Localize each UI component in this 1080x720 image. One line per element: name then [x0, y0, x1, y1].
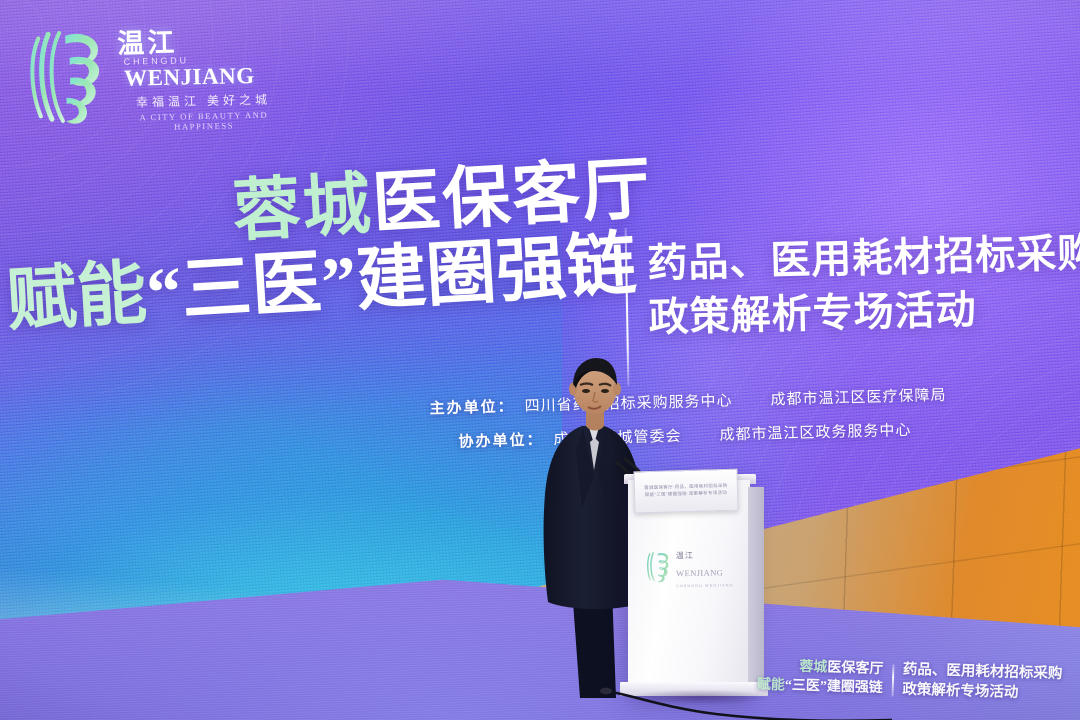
banner-left-block: 蓉城医保客厅 赋能“三医”建圈强链 [757, 658, 884, 699]
podium-logo-sub: CHENGDU WENJIANG [676, 583, 738, 588]
podium-nameplate: 蓉城医保客厅·药品、医用耗材招标采购 赋能“三医”建圈强链·政策解析专场活动 [633, 469, 738, 514]
banner-left-line-2: 赋能“三医”建圈强链 [757, 677, 883, 699]
logo-en-name: WENJIANG [124, 64, 255, 90]
headline-line2-rest: “三医”建圈强链 [144, 226, 638, 332]
stage-photo-scene: 温江 CHENGDU WENJIANG 幸福温江 美好之城 A CITY OF … [0, 0, 1080, 720]
wenjiang-wave-leaf-icon [646, 549, 673, 583]
podium-nameplate-line-2: 赋能“三医”建圈强链·政策解析专场活动 [635, 489, 737, 499]
organizer-label: 主办单位： [429, 400, 514, 417]
banner-left-line1-accent: 蓉城 [799, 660, 827, 676]
lower-right-banner: 蓉城医保客厅 赋能“三医”建圈强链 药品、医用耗材招标采购 政策解析专场活动 [756, 654, 1075, 709]
logo-slogan-en: A CITY OF BEAUTY AND HAPPINESS [119, 109, 289, 133]
wenjiang-city-logo: 温江 CHENGDU WENJIANG 幸福温江 美好之城 A CITY OF … [25, 13, 289, 134]
banner-right-block: 药品、医用耗材招标采购 政策解析专场活动 [902, 661, 1063, 705]
wenjiang-logo-text: 温江 CHENGDU WENJIANG 幸福温江 美好之城 A CITY OF … [117, 14, 289, 133]
logo-cn-name: 温江 [117, 30, 178, 58]
organizer-item: 成都市温江区医疗保障局 [770, 389, 946, 409]
logo-slogan-cn: 幸福温江 美好之城 [118, 93, 288, 111]
event-subtitle: 药品、医用耗材招标采购 政策解析专场活动 [647, 227, 1069, 344]
subtitle-line-1: 药品、医用耗材招标采购 [647, 227, 1068, 291]
banner-divider [892, 664, 894, 696]
banner-left-line1-rest: 医保客厅 [827, 661, 883, 678]
podium-logo-en: WENJIANG [676, 567, 723, 578]
headline-line2-accent: 赋能 [5, 255, 149, 340]
podium-logo-text: 温江 WENJIANG CHENGDU WENJIANG [676, 544, 739, 588]
wenjiang-wave-leaf-icon [25, 23, 111, 129]
banner-left-line2-accent: 赋能 [757, 678, 785, 694]
podium-logo-cn: 温江 [676, 550, 694, 559]
subtitle-line-2: 政策解析专场活动 [648, 280, 1069, 344]
headline-line-2: 赋能“三医”建圈强链 [4, 207, 639, 345]
podium-logo: 温江 WENJIANG CHENGDU WENJIANG [646, 539, 739, 593]
event-headline: 蓉城医保客厅 赋能“三医”建圈强链 [0, 140, 630, 390]
banner-left-line2-rest: “三医”建圈强链 [785, 678, 883, 696]
